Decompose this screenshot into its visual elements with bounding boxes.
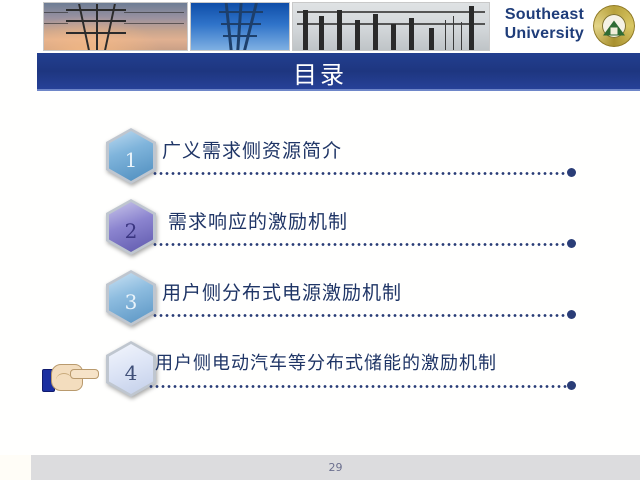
toc-item-3[interactable]: 3 用户侧分布式电源激励机制 [0, 270, 640, 332]
title-underline [37, 89, 640, 91]
slide-header: Southeast University [0, 0, 640, 53]
university-wordmark: Southeast University [505, 5, 584, 43]
toc-badge-2: 2 [106, 199, 156, 255]
slide-footer: 29 [31, 455, 640, 480]
brand-line-2: University [505, 24, 584, 43]
toc-badge-3: 3 [106, 270, 156, 326]
toc-label-4: 用户侧电动汽车等分布式储能的激励机制 [155, 349, 497, 375]
university-seal-icon [593, 5, 635, 47]
toc-dotted-line-1 [152, 172, 568, 175]
brand-line-1: Southeast [505, 5, 584, 24]
toc-end-dot-4 [567, 381, 576, 390]
page-number: 29 [31, 455, 640, 480]
header-image-transmission-tower-dusk [43, 2, 188, 51]
toc-end-dot-3 [567, 310, 576, 319]
toc-badge-4: 4 [106, 341, 156, 397]
slide-title-bar: 目录 [0, 53, 640, 91]
page-title: 目录 [0, 53, 640, 91]
header-image-substation [292, 2, 490, 51]
pointing-hand-icon [42, 356, 98, 392]
toc-end-dot-1 [567, 168, 576, 177]
toc-label-3: 用户侧分布式电源激励机制 [162, 278, 402, 305]
presentation-slide: Southeast University 目录 1 广义需求侧资源简介 [0, 0, 640, 480]
toc-dotted-line-2 [152, 243, 568, 246]
toc-badge-1: 1 [106, 128, 156, 184]
toc-item-2[interactable]: 2 需求响应的激励机制 [0, 199, 640, 261]
footer-left-margin [0, 455, 31, 480]
toc-badge-number-2: 2 [106, 199, 156, 255]
toc-badge-number-1: 1 [106, 128, 156, 184]
toc-list: 1 广义需求侧资源简介 2 需求响应的激励机制 [0, 95, 640, 445]
toc-dotted-line-3 [152, 314, 568, 317]
toc-badge-number-4: 4 [106, 341, 156, 397]
toc-end-dot-2 [567, 239, 576, 248]
toc-label-1: 广义需求侧资源简介 [162, 136, 342, 163]
toc-badge-number-3: 3 [106, 270, 156, 326]
toc-label-2: 需求响应的激励机制 [168, 207, 348, 234]
header-image-transmission-tower-blue-sky [190, 2, 290, 51]
toc-item-1[interactable]: 1 广义需求侧资源简介 [0, 128, 640, 190]
toc-dotted-line-4 [148, 385, 568, 388]
